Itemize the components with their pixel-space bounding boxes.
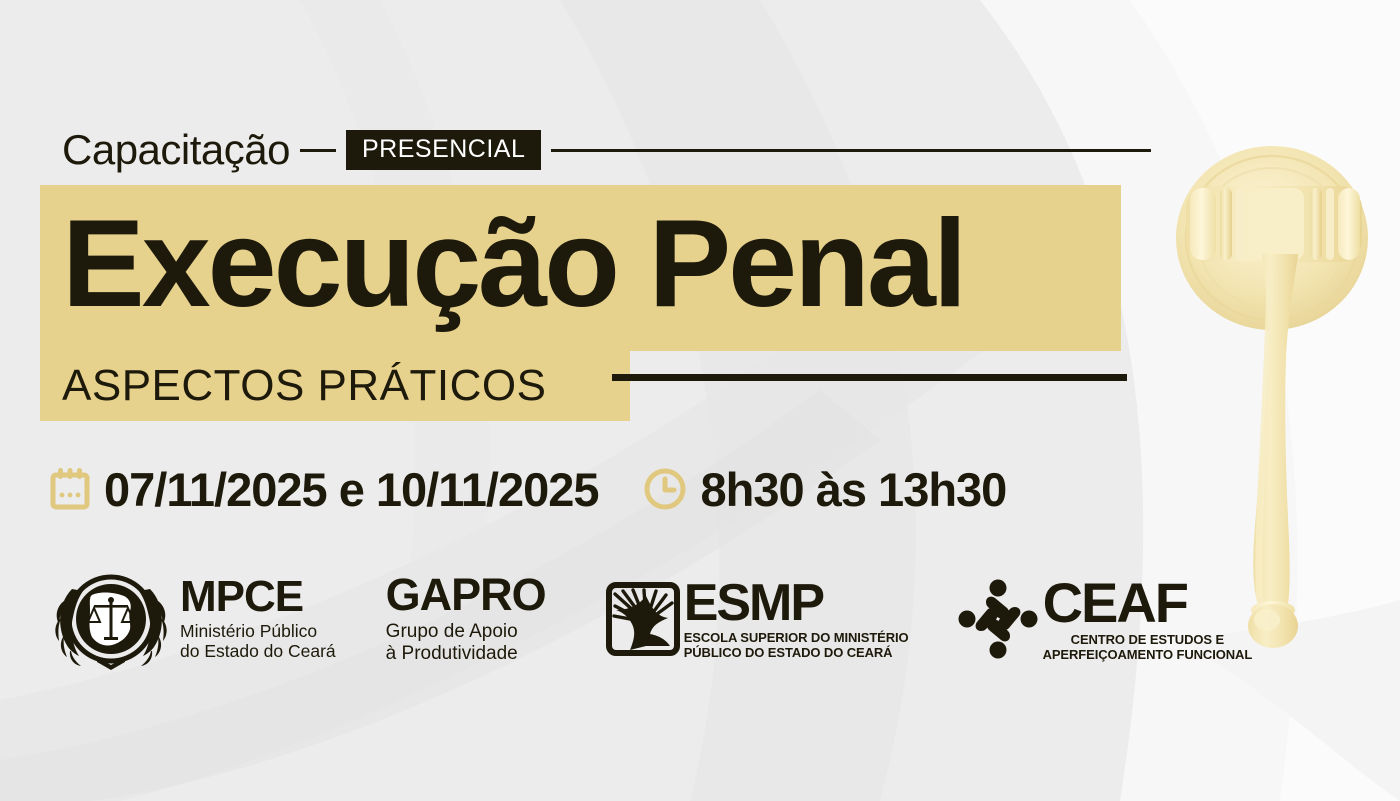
logo-ceaf-line2: APERFEIÇOAMENTO FUNCIONAL [1043, 648, 1253, 663]
logo-gapro: GAPRO Grupo de Apoio à Produtividade [386, 566, 546, 671]
event-date-text: 07/11/2025 e 10/11/2025 [104, 466, 599, 513]
event-time: 8h30 às 13h30 [643, 466, 1007, 513]
logo-esmp-line1: ESCOLA SUPERIOR DO MINISTÉRIO [684, 631, 909, 646]
logo-mpce-name: MPCE [180, 575, 336, 619]
logo-gapro-name: GAPRO [386, 572, 546, 617]
mpce-emblem-icon [52, 567, 170, 671]
horizontal-rule-icon [551, 149, 1151, 152]
logo-ceaf-name: CEAF [1043, 575, 1253, 631]
horizontal-dash-icon [300, 149, 336, 152]
logo-ceaf: CEAF CENTRO DE ESTUDOS E APERFEIÇOAMENTO… [955, 566, 1253, 671]
logo-esmp: ESMP ESCOLA SUPERIOR DO MINISTÉRIO PÚBLI… [606, 566, 909, 671]
page-subtitle: ASPECTOS PRÁTICOS [62, 356, 546, 416]
kicker-label: Capacitação [62, 129, 290, 171]
esmp-emblem-icon [606, 582, 680, 656]
logo-gapro-line1: Grupo de Apoio [386, 621, 518, 643]
partner-logos-row: MPCE Ministério Público do Estado do Cea… [52, 566, 1252, 671]
calendar-icon [50, 467, 90, 511]
logo-esmp-name: ESMP [684, 577, 909, 629]
event-meta-row: 07/11/2025 e 10/11/2025 8h30 às 13h30 [50, 455, 1006, 523]
kicker-row: Capacitação PRESENCIAL [62, 124, 1151, 176]
logo-mpce-line2: do Estado do Ceará [180, 642, 336, 662]
logo-ceaf-line1: CENTRO DE ESTUDOS E [1043, 633, 1253, 648]
status-badge: PRESENCIAL [346, 130, 541, 170]
logo-gapro-line2: à Produtividade [386, 643, 518, 665]
event-banner: Capacitação PRESENCIAL Execução Penal AS… [0, 0, 1400, 801]
subtitle-rule-icon [612, 374, 1127, 381]
logo-esmp-line2: PÚBLICO DO ESTADO DO CEARÁ [684, 646, 909, 661]
event-date: 07/11/2025 e 10/11/2025 [50, 466, 599, 513]
clock-icon [643, 467, 687, 511]
event-time-text: 8h30 às 13h30 [701, 466, 1007, 513]
page-title: Execução Penal [62, 191, 964, 337]
ceaf-emblem-icon [955, 578, 1041, 660]
logo-mpce: MPCE Ministério Público do Estado do Cea… [52, 566, 336, 671]
logo-mpce-line1: Ministério Público [180, 622, 336, 642]
